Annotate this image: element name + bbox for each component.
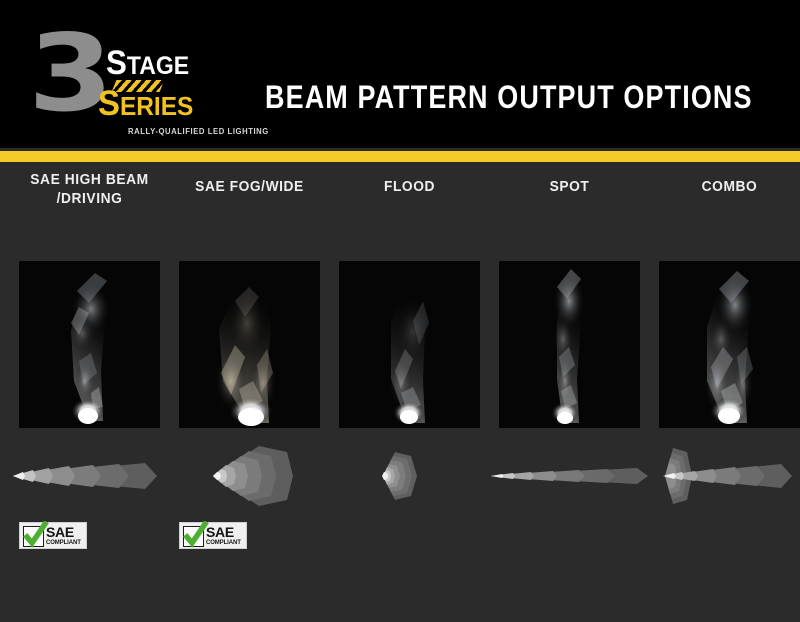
- sae-badge-wrap-fog-wide: SAE COMPLIANT: [179, 522, 320, 552]
- beam-diagram-combo: [645, 440, 800, 512]
- beam-photo-flood: [339, 261, 480, 428]
- column-label: FLOOD: [329, 178, 490, 197]
- column-label-line1: FLOOD: [329, 178, 490, 197]
- sae-badge-main: SAE: [46, 525, 88, 539]
- column-label: SAE HIGH BEAM /DRIVING: [9, 171, 170, 209]
- beam-pattern-columns: SAE HIGH BEAM /DRIVING: [19, 178, 781, 598]
- logo-stage-rest: TAGE: [127, 52, 189, 80]
- logo-tagline: RALLY-QUALIFIED LED LIGHTING: [128, 127, 269, 136]
- column-label: COMBO: [649, 178, 800, 197]
- sae-compliant-badge: SAE COMPLIANT: [179, 522, 247, 549]
- column-label: SPOT: [489, 178, 650, 197]
- column-label-line2: /DRIVING: [9, 190, 170, 209]
- logo-series-rest: ERIES: [120, 91, 193, 121]
- checkmark-icon: [23, 526, 44, 547]
- beam-photo-fog-wide: [179, 261, 320, 428]
- column-label: SAE FOG/WIDE: [169, 178, 330, 197]
- logo-word-stage: STAGE: [106, 46, 189, 80]
- column-label-line1: SPOT: [489, 178, 650, 197]
- logo-numeral-3: 3: [28, 20, 109, 126]
- yellow-divider: [0, 151, 800, 162]
- beam-diagram-spot: [485, 440, 654, 512]
- checkmark-icon: [183, 526, 204, 547]
- column-label-line1: SAE FOG/WIDE: [169, 178, 330, 197]
- beam-photo-spot: [499, 261, 640, 428]
- column-label-line1: SAE HIGH BEAM: [9, 171, 170, 190]
- header-bar: 3 STAGE SERIES RALLY-QUALIFIED LED LIGHT…: [0, 0, 800, 148]
- logo-stage-cap: S: [106, 44, 127, 82]
- beam-diagram-flood: [325, 440, 494, 512]
- logo-series-cap: S: [98, 84, 120, 123]
- column-label-line1: COMBO: [649, 178, 800, 197]
- sae-badge-main: SAE: [206, 525, 248, 539]
- beam-photo-combo: [659, 261, 800, 428]
- sae-badge-wrap-driving: SAE COMPLIANT: [19, 522, 160, 552]
- beam-diagram-driving: [5, 440, 174, 512]
- stage-series-logo: 3 STAGE SERIES RALLY-QUALIFIED LED LIGHT…: [28, 24, 243, 132]
- beam-pattern-infographic: 3 STAGE SERIES RALLY-QUALIFIED LED LIGHT…: [0, 0, 800, 622]
- sae-badge-text: SAE COMPLIANT: [206, 525, 248, 547]
- beam-diagram-fog-wide: [165, 440, 334, 512]
- sae-badge-sub: COMPLIANT: [206, 539, 248, 547]
- logo-word-series: SERIES: [98, 86, 193, 121]
- sae-badge-sub: COMPLIANT: [46, 539, 88, 547]
- sae-compliant-badge: SAE COMPLIANT: [19, 522, 87, 549]
- sae-badge-text: SAE COMPLIANT: [46, 525, 88, 547]
- page-title: BEAM PATTERN OUTPUT OPTIONS: [265, 80, 753, 117]
- beam-photo-driving: [19, 261, 160, 428]
